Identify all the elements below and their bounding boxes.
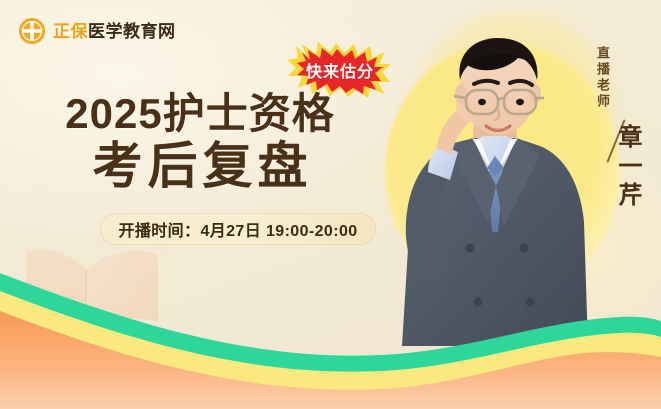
logo-wordmark: 正保医学教育网	[53, 23, 176, 40]
headline-line-1: 2025护士资格	[0, 92, 400, 136]
logo-text-secondary: 医学教育网	[88, 22, 176, 41]
site-logo[interactable]: 正保医学教育网	[18, 17, 176, 45]
logo-text-primary: 正保	[53, 22, 88, 41]
bottom-wave-decoration	[0, 249, 661, 409]
teacher-role-label: 直播老师	[596, 46, 609, 110]
teacher-name-label: 章一芹	[615, 124, 639, 211]
headline-line-2: 考后复盘	[0, 140, 400, 192]
live-class-promo-banner: 正保医学教育网 快来估分 2025护士资格 考后复盘 开播时间：4月27日 19…	[0, 0, 661, 409]
medical-cross-circle-icon	[18, 17, 46, 45]
broadcast-time-label: 开播时间：4月27日 19:00-20:00	[118, 217, 357, 241]
teacher-credit: 直播老师 章一芹	[577, 46, 643, 226]
broadcast-time-pill: 开播时间：4月27日 19:00-20:00	[100, 213, 376, 245]
headline-block: 2025护士资格 考后复盘	[0, 92, 400, 192]
